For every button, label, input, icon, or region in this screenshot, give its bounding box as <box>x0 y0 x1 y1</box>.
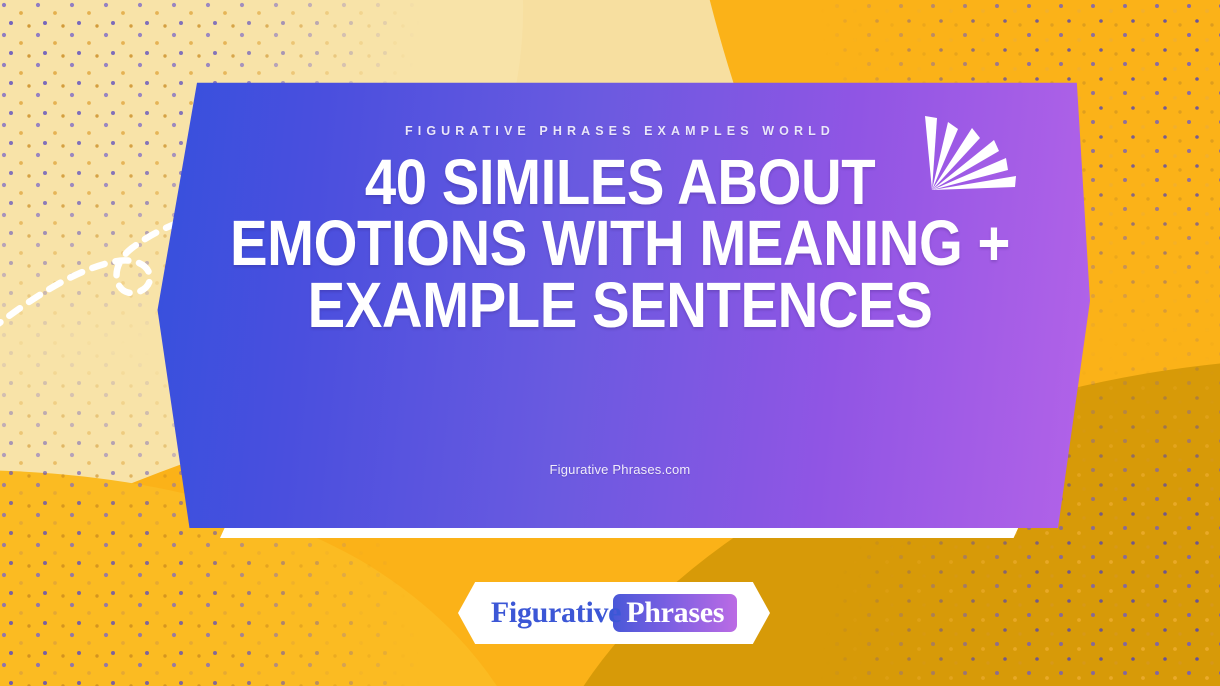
brand-logo[interactable]: FigurativePhrases <box>458 582 770 644</box>
logo-word-phrases: Phrases <box>613 594 737 633</box>
site-url-text: Figurative Phrases.com <box>150 462 1090 477</box>
logo-word-figurative: Figurative <box>491 596 621 630</box>
eyebrow-text: FIGURATIVE PHRASES EXAMPLES WORLD <box>405 124 835 138</box>
logo-wordmark: FigurativePhrases <box>458 582 770 644</box>
headline-line-2: EMOTIONS WITH MEANING + <box>205 213 1036 274</box>
headline-line-3: EXAMPLE SENTENCES <box>205 275 1036 336</box>
title-card-wrapper: FIGURATIVE PHRASES EXAMPLES WORLD 40 SIM… <box>150 80 1090 540</box>
title-card-layer: FIGURATIVE PHRASES EXAMPLES WORLD 40 SIM… <box>0 0 1220 686</box>
poster-canvas: FIGURATIVE PHRASES EXAMPLES WORLD 40 SIM… <box>0 0 1220 686</box>
page-title: 40 SIMILES ABOUT EMOTIONS WITH MEANING +… <box>205 152 1036 336</box>
headline-line-1: 40 SIMILES ABOUT <box>205 152 1036 213</box>
title-card-content: FIGURATIVE PHRASES EXAMPLES WORLD 40 SIM… <box>150 80 1090 540</box>
